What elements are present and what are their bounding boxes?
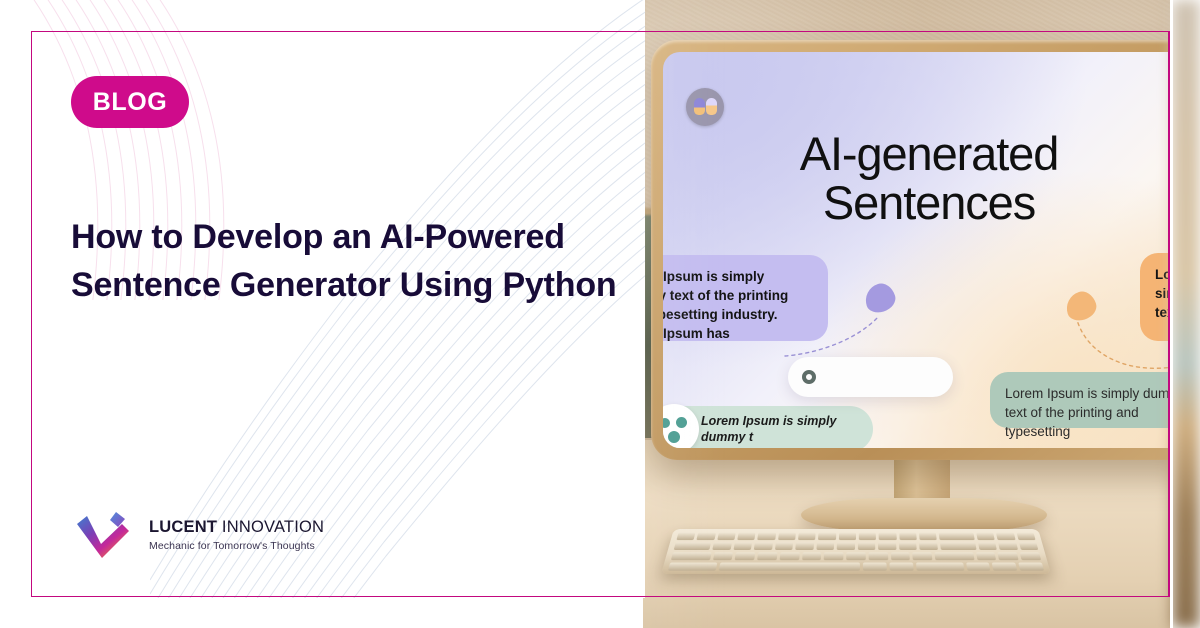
photo-scene: AI-generated Sentences Lorem Ipsum is si… [643, 0, 1172, 628]
key [878, 542, 896, 550]
photo-divider [1170, 0, 1173, 628]
key [676, 533, 695, 540]
purple-cursor-icon [865, 284, 895, 312]
app-avatar-icon [686, 88, 724, 126]
three-dots-avatar-icon [663, 404, 699, 448]
app-avatar-icon-right [706, 98, 717, 115]
reply-pill: Lorem Ipsum is simply dummy t [663, 406, 873, 448]
key [879, 533, 897, 540]
screen-title-line-2: Sentences [663, 179, 1172, 228]
keyboard-row [674, 542, 1039, 550]
key [754, 542, 773, 550]
key [757, 533, 775, 540]
key [824, 552, 844, 560]
key [798, 533, 816, 540]
key [1020, 552, 1041, 560]
key [779, 552, 799, 560]
key [913, 552, 933, 560]
key [839, 533, 856, 540]
key [998, 552, 1019, 560]
key [868, 552, 888, 560]
text-panel: BLOG How to Develop an AI-Powered Senten… [0, 0, 645, 598]
key [966, 563, 991, 571]
search-input[interactable] [788, 357, 953, 397]
app-avatar-icon-left [694, 98, 705, 115]
key [795, 542, 813, 550]
key [846, 552, 865, 560]
key [718, 563, 860, 571]
page-title: How to Develop an AI-Powered Sentence Ge… [71, 213, 631, 310]
key [712, 552, 733, 560]
key [802, 552, 822, 560]
key [1018, 563, 1044, 571]
key [818, 533, 836, 540]
key [992, 563, 1017, 571]
monitor: AI-generated Sentences Lorem Ipsum is si… [651, 40, 1172, 460]
key [898, 542, 916, 550]
key [1016, 533, 1035, 540]
key [674, 542, 711, 550]
key [712, 542, 731, 550]
key [939, 533, 975, 540]
reply-pill-text: Lorem Ipsum is simply dummy t [701, 413, 873, 446]
card-purple: Lorem Ipsum is simply dummy text of the … [663, 255, 828, 341]
logo-name-bold: LUCENT [149, 518, 217, 536]
key [735, 552, 756, 560]
blog-badge: BLOG [71, 76, 189, 128]
lucent-logo-icon [75, 508, 137, 562]
decorative-frame-right-line [1168, 31, 1170, 597]
key [899, 533, 917, 540]
key [697, 533, 716, 540]
record-circle-icon [802, 370, 816, 384]
logo-tagline: Mechanic for Tomorrow's Thoughts [149, 540, 324, 552]
key [857, 542, 875, 550]
key [976, 552, 997, 560]
keyboard-row [676, 533, 1035, 540]
key [976, 533, 995, 540]
key [774, 542, 793, 550]
key [1019, 542, 1039, 550]
key [737, 533, 756, 540]
photo-blurred-edge [1172, 0, 1200, 628]
hero-photo: AI-generated Sentences Lorem Ipsum is si… [643, 0, 1200, 628]
key [939, 542, 976, 550]
logo-text: LUCENT INNOVATION Mechanic for Tomorrow'… [149, 518, 324, 552]
key [668, 563, 717, 571]
logo: LUCENT INNOVATION Mechanic for Tomorrow'… [75, 508, 324, 562]
logo-name-light: INNOVATION [222, 518, 324, 536]
key [978, 542, 997, 550]
card-green: Lorem Ipsum is simply dummy text of the … [990, 372, 1172, 428]
key [935, 552, 975, 560]
logo-name: LUCENT INNOVATION [149, 518, 324, 537]
key [919, 533, 937, 540]
blog-cover-canvas: AI-generated Sentences Lorem Ipsum is si… [0, 0, 1200, 628]
key [891, 552, 911, 560]
key [733, 542, 752, 550]
key [837, 542, 855, 550]
avatar-dot-1 [663, 418, 670, 428]
avatar-dot-3 [668, 431, 680, 443]
key [919, 542, 938, 550]
keyboard-row [671, 552, 1041, 560]
key [671, 552, 711, 560]
key [863, 563, 887, 571]
orange-cursor-icon [1066, 292, 1096, 320]
key [816, 542, 834, 550]
avatar-dot-2 [676, 417, 687, 428]
key [996, 533, 1015, 540]
key [778, 533, 796, 540]
key [916, 563, 964, 571]
keyboard [661, 529, 1051, 574]
screen-title-line-1: AI-generated [663, 130, 1172, 179]
key [859, 533, 876, 540]
key [757, 552, 777, 560]
keyboard-row [668, 563, 1044, 571]
key [717, 533, 736, 540]
key [998, 542, 1018, 550]
screen-title: AI-generated Sentences [663, 130, 1172, 228]
monitor-screen: AI-generated Sentences Lorem Ipsum is si… [663, 52, 1172, 448]
key [890, 563, 914, 571]
monitor-stand-base [801, 498, 1047, 532]
